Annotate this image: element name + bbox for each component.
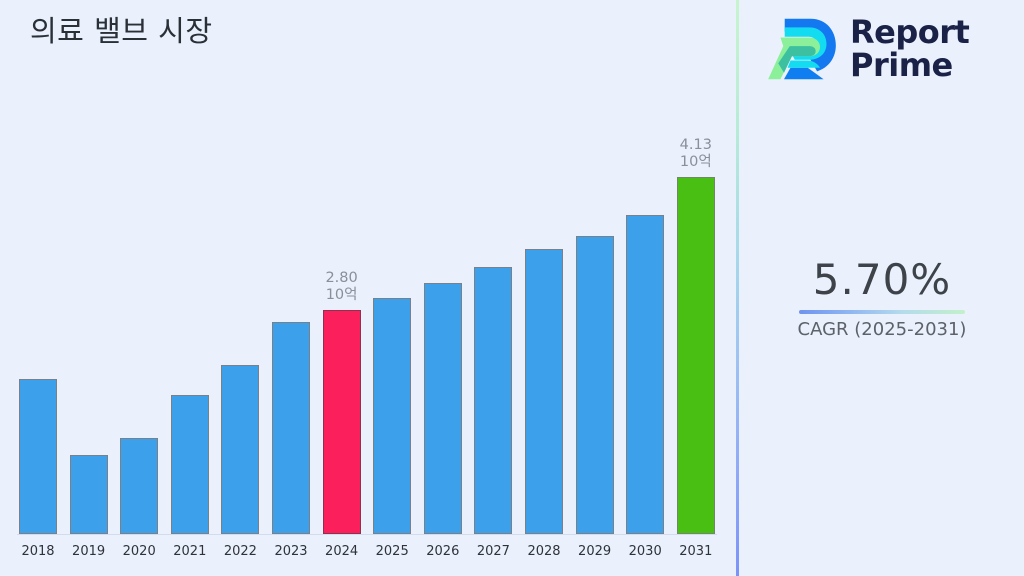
panel-divider (736, 0, 739, 576)
bar-2028[interactable] (525, 249, 563, 534)
bar-2025[interactable] (373, 298, 411, 534)
bar-2027[interactable] (474, 267, 512, 534)
bar-2023[interactable] (272, 322, 310, 534)
cagr-block: 5.70% CAGR (2025-2031) (740, 255, 1024, 340)
bar-value-label-unit-2031: 10억 (651, 154, 741, 171)
brand-name: Report Prime (850, 16, 969, 82)
bar-2031[interactable] (677, 177, 715, 534)
bar-2030[interactable] (626, 215, 664, 534)
bar-2018[interactable] (19, 379, 57, 534)
bar-value-label-amount-2031: 4.13 (651, 137, 741, 154)
brand-logo[interactable]: Report Prime (766, 12, 969, 86)
bar-value-label-amount-2024: 2.80 (297, 270, 387, 287)
cagr-caption: CAGR (2025-2031) (740, 319, 1024, 340)
bar-2026[interactable] (424, 283, 462, 534)
bar-2021[interactable] (171, 395, 209, 534)
slide-canvas: 의료 밸브 시장 2.8010억4.1310억 2018201920202021… (0, 0, 1024, 576)
report-prime-r-mark-icon (766, 12, 838, 86)
bar-value-label-2024: 2.8010억 (297, 270, 387, 304)
bar-2022[interactable] (221, 365, 259, 534)
bar-chart: 2.8010억4.1310억 2018201920202021202220232… (0, 0, 737, 576)
bar-2020[interactable] (120, 438, 158, 534)
bar-2029[interactable] (576, 236, 614, 534)
bar-value-label-2031: 4.1310억 (651, 137, 741, 171)
x-axis-line (17, 534, 717, 535)
x-tick-2031: 2031 (666, 544, 726, 559)
bar-2024[interactable] (323, 310, 361, 534)
bar-2019[interactable] (70, 455, 108, 534)
right-panel: Report Prime 5.70% CAGR (2025-2031) (740, 0, 1024, 576)
cagr-value: 5.70% (740, 255, 1024, 304)
bar-value-label-unit-2024: 10억 (297, 287, 387, 304)
brand-name-line2: Prime (850, 46, 953, 84)
cagr-divider-rule (799, 310, 965, 314)
